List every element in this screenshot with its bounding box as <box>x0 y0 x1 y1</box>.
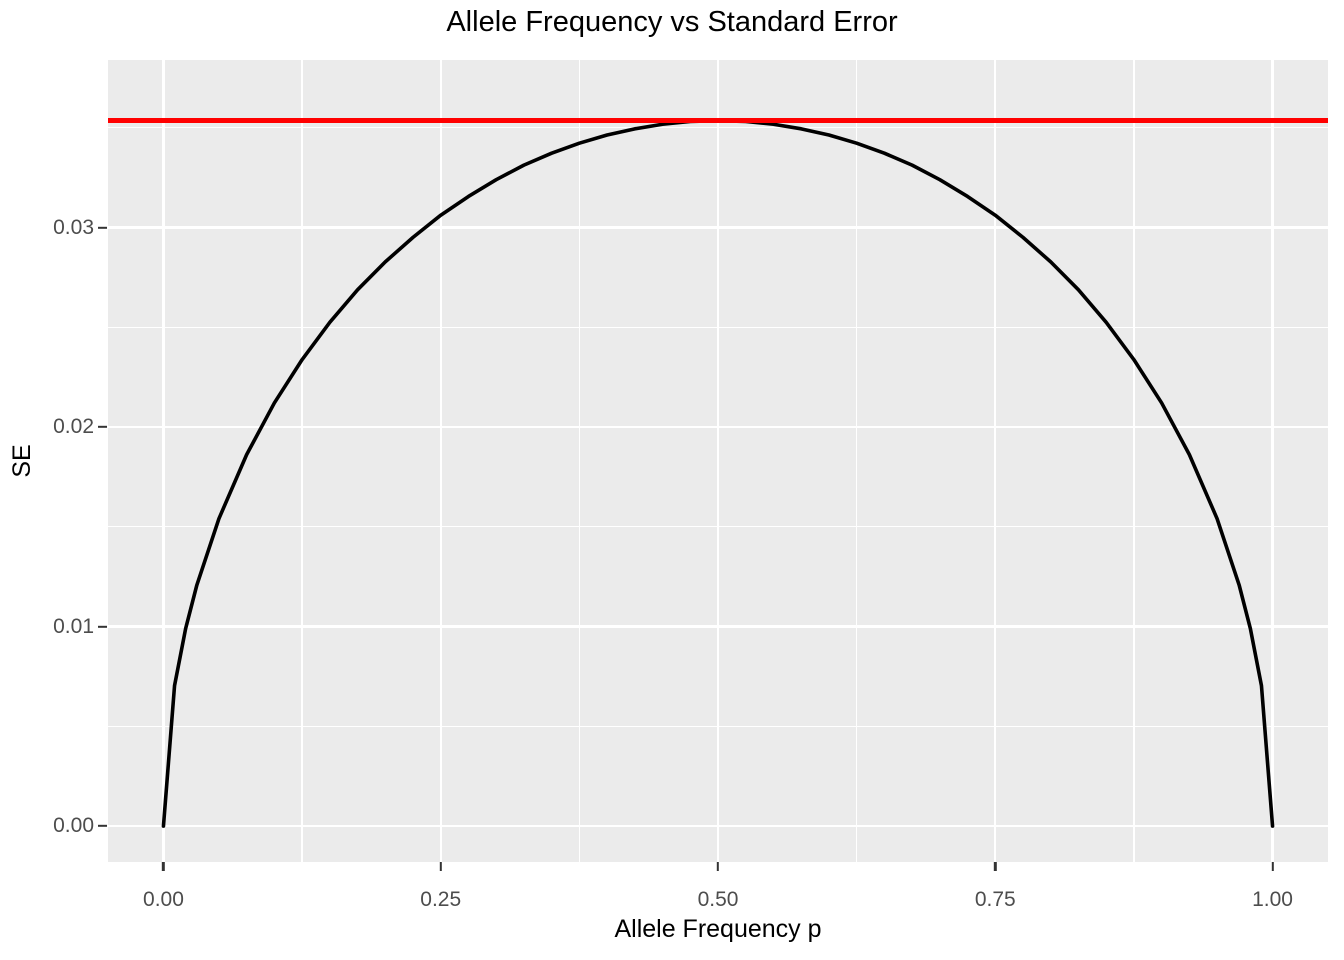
y-axis-title: SE <box>8 444 37 477</box>
y-tick-label: 0.02 <box>53 415 94 439</box>
x-tick-mark <box>440 862 442 871</box>
y-tick-mark <box>98 426 107 428</box>
x-tick-label: 0.25 <box>420 888 461 912</box>
max-se-reference-line <box>108 118 1328 123</box>
se-curve <box>108 60 1328 862</box>
x-axis-title: Allele Frequency p <box>108 915 1328 944</box>
chart-root: Allele Frequency vs Standard Error 0.000… <box>0 0 1344 960</box>
x-tick-mark <box>162 862 164 871</box>
x-tick-mark <box>717 862 719 871</box>
chart-title: Allele Frequency vs Standard Error <box>0 6 1344 39</box>
x-tick-mark <box>994 862 996 871</box>
x-tick-label: 1.00 <box>1252 888 1293 912</box>
plot-panel <box>108 60 1328 862</box>
y-tick-mark <box>98 825 107 827</box>
x-tick-label: 0.00 <box>143 888 184 912</box>
x-tick-label: 0.75 <box>975 888 1016 912</box>
x-tick-label: 0.50 <box>698 888 739 912</box>
y-tick-label: 0.03 <box>53 216 94 240</box>
y-tick-mark <box>98 625 107 627</box>
y-tick-label: 0.00 <box>53 814 94 838</box>
y-tick-mark <box>98 226 107 228</box>
y-tick-label: 0.01 <box>53 615 94 639</box>
x-tick-mark <box>1271 862 1273 871</box>
